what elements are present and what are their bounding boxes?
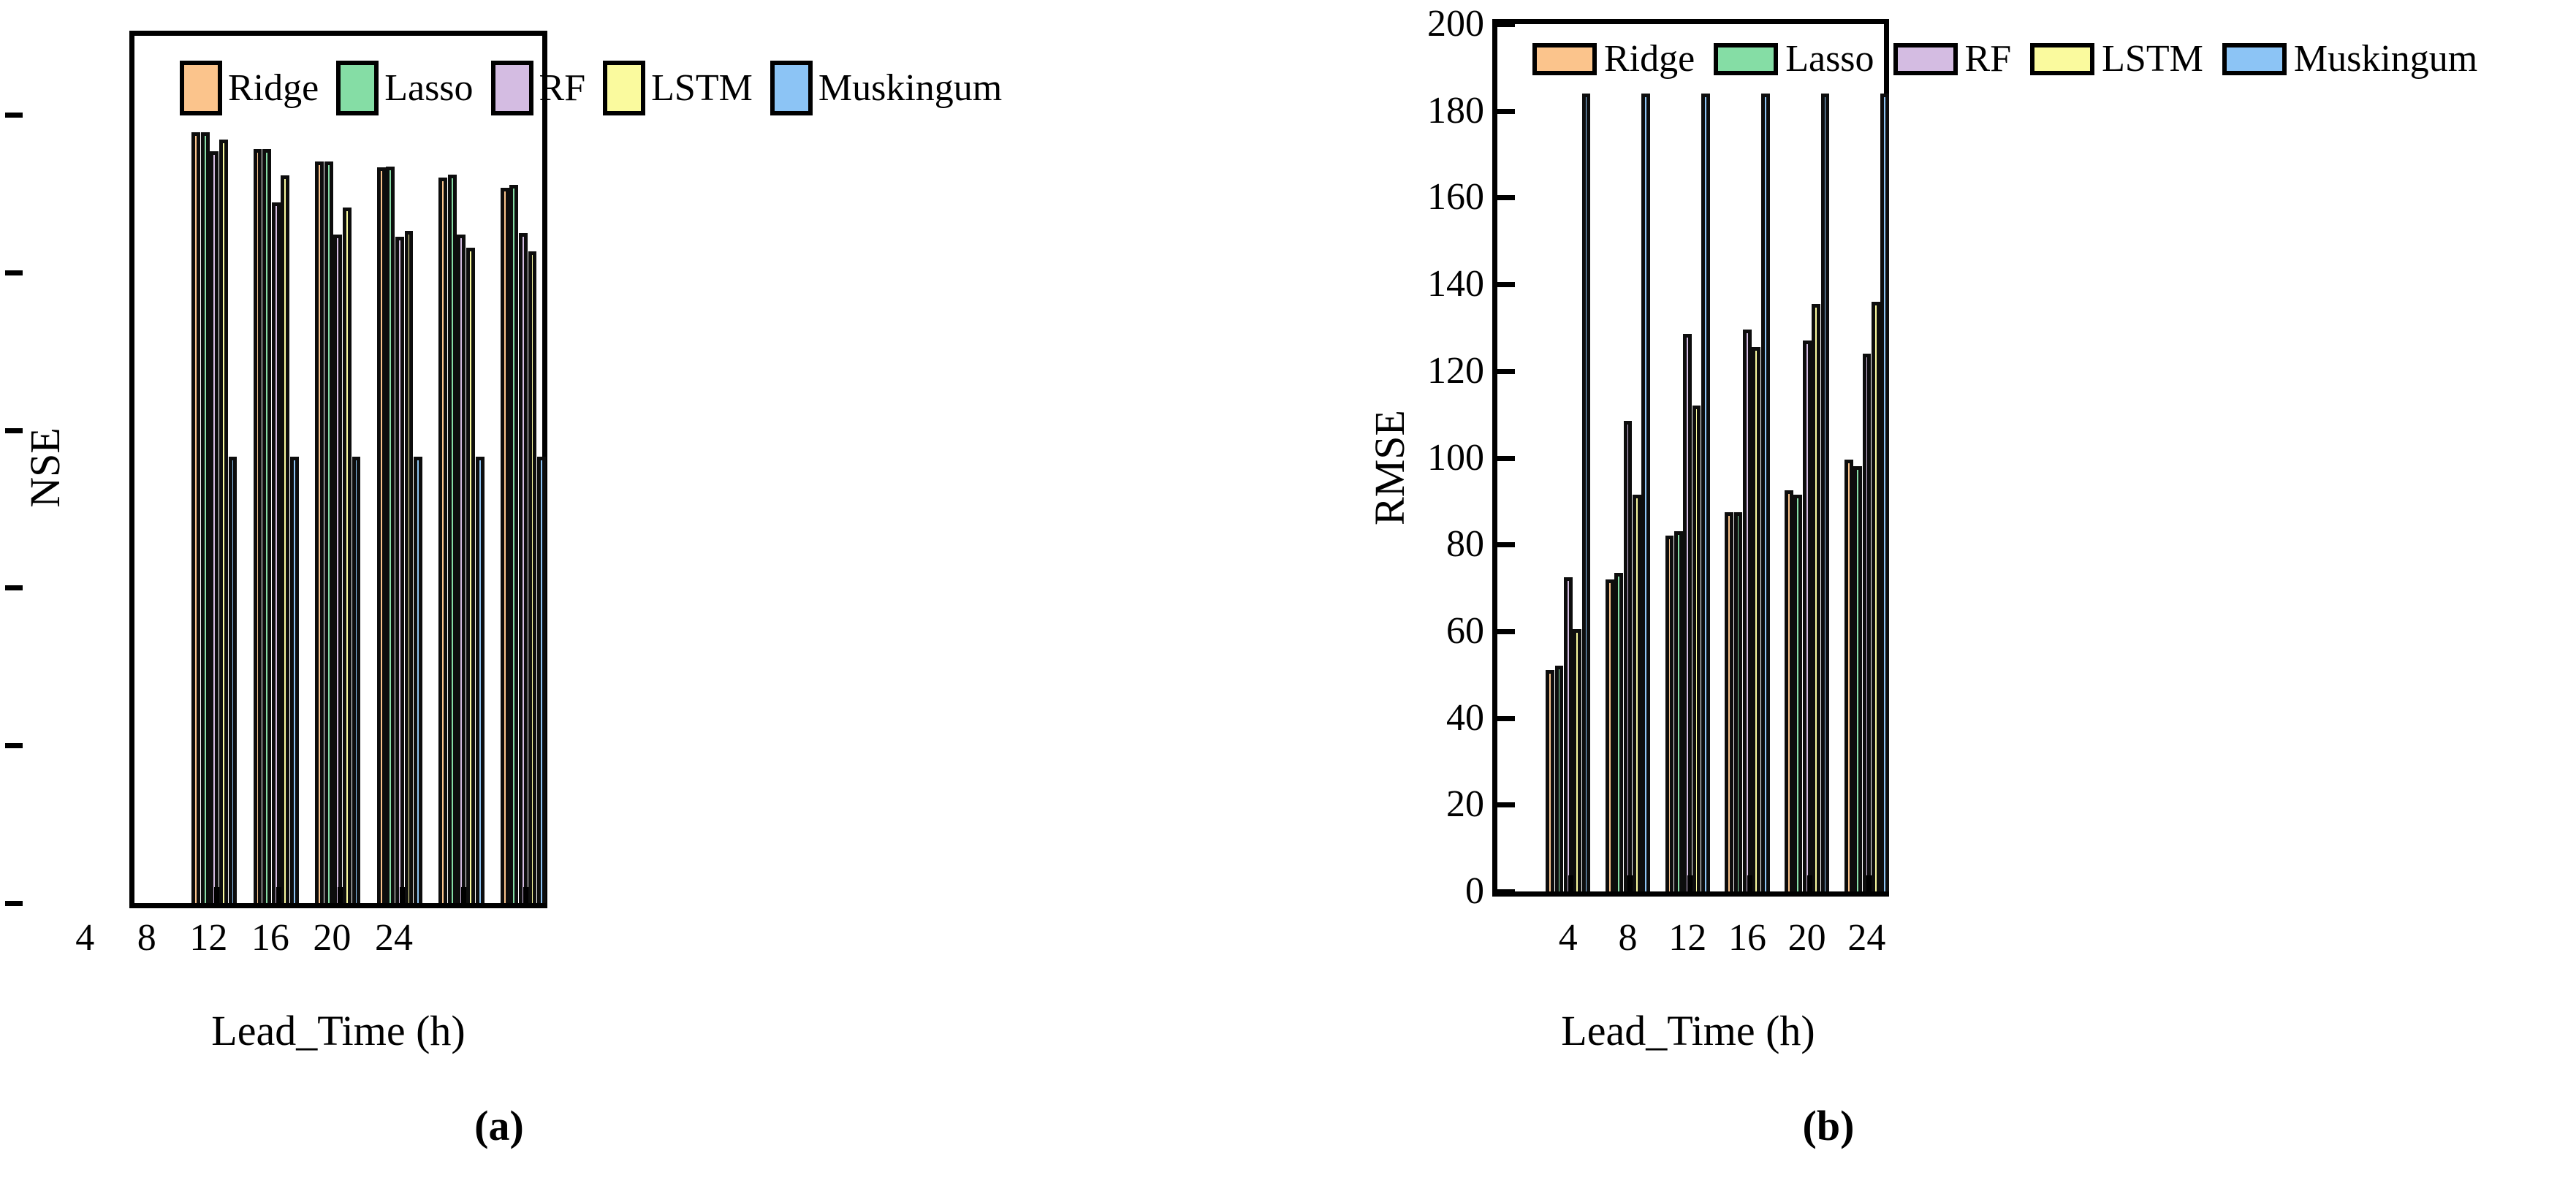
bar-muskingum-20h: [476, 457, 485, 903]
plot-frame-b: RidgeLassoRFLSTMMuskingum: [1492, 19, 1889, 897]
bar-rf-16h: [395, 237, 404, 903]
bar-muskingum-12h: [352, 457, 361, 903]
legend-item-lstm[interactable]: LSTM: [2030, 40, 2222, 78]
legend-label-muskingum: Muskingum: [818, 69, 1002, 107]
plot-area-b: [1497, 24, 1884, 891]
y-tick-mark: [1497, 629, 1515, 634]
bar-ridge-8h: [1606, 579, 1614, 891]
bar-ridge-20h: [1785, 490, 1793, 891]
bar-ridge-16h: [1725, 512, 1733, 891]
legend-swatch-lasso: [336, 61, 379, 115]
legend-item-ridge[interactable]: Ridge: [180, 61, 336, 115]
bar-lstm-8h: [1633, 495, 1641, 891]
x-tick-mark-8h: [1627, 875, 1633, 891]
bar-ridge-4h: [1546, 670, 1554, 891]
legend-swatch-lstm: [603, 61, 645, 115]
x-tick-mark-12h: [338, 887, 343, 903]
bar-muskingum-24h: [537, 457, 546, 903]
x-tick-mark-4h: [214, 887, 219, 903]
legend-item-muskingum[interactable]: Muskingum: [770, 61, 1019, 115]
y-tick-label: 200: [1427, 5, 1484, 43]
y-tick-label: 60: [1446, 612, 1484, 650]
legend-item-lasso[interactable]: Lasso: [336, 61, 490, 115]
x-tick-label-20h: 20: [1788, 919, 1826, 957]
legend-a: RidgeLassoRFLSTMMuskingum: [180, 61, 1019, 115]
bar-muskingum-20h: [1821, 94, 1830, 891]
x-tick-label-8h: 8: [137, 919, 156, 957]
x-tick-label-4h: 4: [1559, 919, 1578, 957]
y-tick-mark: [1497, 195, 1515, 200]
x-tick-label-16h: 16: [251, 919, 289, 957]
bar-lstm-24h: [528, 251, 537, 903]
x-tick-label-4h: 4: [75, 919, 94, 957]
bar-lasso-16h: [1734, 512, 1743, 891]
panel-b-rmse: RidgeLassoRFLSTMMuskingum 02040608010012…: [1288, 0, 2576, 1183]
bar-lstm-12h: [343, 208, 352, 903]
bar-lasso-4h: [1555, 666, 1564, 891]
legend-item-rf[interactable]: RF: [491, 61, 604, 115]
x-tick-mark-16h: [1747, 875, 1752, 891]
bar-lstm-8h: [281, 175, 289, 903]
legend-item-lstm[interactable]: LSTM: [603, 61, 770, 115]
panel-a-nse: RidgeLassoRFLSTMMuskingum 0.00.20.40.60.…: [0, 0, 1288, 1183]
legend-swatch-lstm: [2030, 43, 2094, 75]
x-tick-label-12h: 12: [1668, 919, 1706, 957]
bar-lasso-12h: [324, 161, 333, 903]
legend-b: RidgeLassoRFLSTMMuskingum: [1532, 40, 2496, 78]
y-tick-label: 160: [1427, 178, 1484, 216]
bar-ridge-8h: [254, 149, 262, 903]
bar-muskingum-16h: [414, 457, 422, 903]
y-tick-mark: [1497, 456, 1515, 461]
x-tick-mark-24h: [1866, 875, 1872, 891]
bar-lasso-4h: [201, 132, 210, 903]
x-tick-label-12h: 12: [189, 919, 227, 957]
legend-label-lstm: LSTM: [651, 69, 753, 107]
bar-ridge-4h: [191, 132, 200, 903]
bar-rf-12h: [333, 235, 342, 903]
bar-lasso-12h: [1674, 531, 1683, 891]
plot-area-a: [134, 36, 542, 903]
bar-rf-4h: [1564, 577, 1573, 891]
x-tick-label-20h: 20: [313, 919, 351, 957]
legend-swatch-ridge: [180, 61, 222, 115]
y-tick-mark: [1497, 282, 1515, 287]
y-tick-mark: [1497, 802, 1515, 807]
legend-label-lasso: Lasso: [1785, 40, 1874, 78]
bar-ridge-24h: [501, 188, 509, 903]
bar-rf-24h: [1863, 354, 1872, 891]
bar-muskingum-4h: [229, 457, 238, 903]
bar-muskingum-8h: [1641, 94, 1650, 891]
bar-muskingum-12h: [1701, 94, 1710, 891]
y-axis-title-b: RMSE: [1369, 410, 1411, 525]
y-tick-label: 0: [1465, 872, 1484, 910]
y-tick-mark: [5, 901, 23, 906]
x-tick-label-24h: 24: [375, 919, 413, 957]
y-tick-mark: [5, 270, 23, 275]
legend-swatch-ridge: [1532, 43, 1597, 75]
bar-muskingum-24h: [1880, 94, 1889, 891]
x-tick-mark-24h: [523, 887, 528, 903]
x-tick-mark-4h: [1568, 875, 1573, 891]
subfigure-caption-a: (a): [474, 1105, 524, 1147]
bar-lasso-8h: [1614, 573, 1623, 891]
bar-rf-12h: [1683, 334, 1692, 891]
legend-swatch-rf: [1893, 43, 1958, 75]
bar-lasso-20h: [448, 175, 457, 903]
y-tick-label: 40: [1446, 699, 1484, 737]
legend-item-muskingum[interactable]: Muskingum: [2222, 40, 2496, 78]
legend-swatch-muskingum: [770, 61, 813, 115]
y-tick-mark: [5, 428, 23, 433]
bar-lasso-16h: [386, 167, 395, 903]
y-tick-mark: [1497, 22, 1515, 27]
x-tick-mark-12h: [1687, 875, 1692, 891]
x-axis-title-b: Lead_Time (h): [1561, 1010, 1815, 1052]
y-tick-mark: [1497, 369, 1515, 374]
legend-swatch-muskingum: [2222, 43, 2287, 75]
legend-label-ridge: Ridge: [1604, 40, 1695, 78]
y-axis-title-a: NSE: [24, 427, 67, 508]
x-tick-mark-20h: [461, 887, 466, 903]
legend-item-rf[interactable]: RF: [1893, 40, 2031, 78]
bar-rf-16h: [1743, 330, 1752, 891]
y-tick-label: 100: [1427, 439, 1484, 477]
legend-label-lasso: Lasso: [384, 69, 473, 107]
bar-lstm-12h: [1692, 406, 1701, 891]
y-tick-mark: [1497, 542, 1515, 547]
plot-frame-a: RidgeLassoRFLSTMMuskingum: [129, 31, 547, 908]
y-tick-mark: [5, 113, 23, 118]
y-tick-label: 140: [1427, 265, 1484, 303]
y-tick-label: 180: [1427, 92, 1484, 130]
legend-swatch-rf: [491, 61, 533, 115]
x-tick-mark-8h: [276, 887, 281, 903]
bar-rf-20h: [457, 235, 466, 903]
y-tick-label: 80: [1446, 525, 1484, 563]
legend-swatch-lasso: [1714, 43, 1778, 75]
x-tick-label-24h: 24: [1847, 919, 1885, 957]
legend-item-ridge[interactable]: Ridge: [1532, 40, 1714, 78]
x-axis-title-a: Lead_Time (h): [211, 1010, 465, 1052]
bar-rf-8h: [272, 202, 281, 903]
bar-ridge-12h: [1665, 536, 1674, 891]
bar-rf-20h: [1803, 341, 1812, 891]
bar-rf-4h: [210, 151, 219, 903]
subfigure-caption-b: (b): [1803, 1105, 1855, 1147]
y-tick-label: 20: [1446, 786, 1484, 823]
bar-muskingum-8h: [290, 457, 299, 903]
bar-lstm-4h: [219, 140, 228, 903]
bar-lasso-8h: [262, 149, 271, 903]
bar-lasso-24h: [1853, 466, 1862, 891]
y-tick-mark: [5, 585, 23, 590]
x-tick-mark-20h: [1807, 875, 1812, 891]
legend-label-ridge: Ridge: [228, 69, 319, 107]
bar-lstm-16h: [1752, 347, 1760, 891]
figure-root: RidgeLassoRFLSTMMuskingum 0.00.20.40.60.…: [0, 0, 2576, 1183]
legend-label-lstm: LSTM: [2102, 40, 2203, 78]
y-tick-mark: [1497, 109, 1515, 114]
bar-rf-8h: [1624, 421, 1633, 891]
bar-lstm-4h: [1573, 629, 1581, 891]
y-tick-mark: [1497, 889, 1515, 894]
bar-lstm-20h: [1812, 304, 1820, 891]
bar-lstm-20h: [466, 248, 475, 903]
bar-lstm-24h: [1872, 302, 1880, 891]
bar-muskingum-4h: [1582, 94, 1591, 891]
legend-label-muskingum: Muskingum: [2294, 40, 2477, 78]
legend-label-rf: RF: [1965, 40, 2012, 78]
y-tick-label: 120: [1427, 352, 1484, 390]
y-tick-mark: [1497, 716, 1515, 721]
bar-rf-24h: [519, 233, 528, 903]
bar-lstm-16h: [405, 231, 414, 903]
x-tick-mark-16h: [400, 887, 405, 903]
bar-lasso-20h: [1793, 495, 1802, 891]
legend-label-rf: RF: [539, 69, 586, 107]
x-tick-label-8h: 8: [1618, 919, 1637, 957]
bar-lasso-24h: [509, 185, 518, 903]
legend-item-lasso[interactable]: Lasso: [1714, 40, 1893, 78]
x-tick-label-16h: 16: [1728, 919, 1766, 957]
bar-ridge-20h: [438, 178, 447, 903]
y-tick-mark: [5, 743, 23, 748]
bar-muskingum-16h: [1761, 94, 1770, 891]
bar-ridge-12h: [315, 161, 324, 903]
bar-ridge-16h: [377, 167, 386, 903]
bar-ridge-24h: [1844, 460, 1853, 891]
